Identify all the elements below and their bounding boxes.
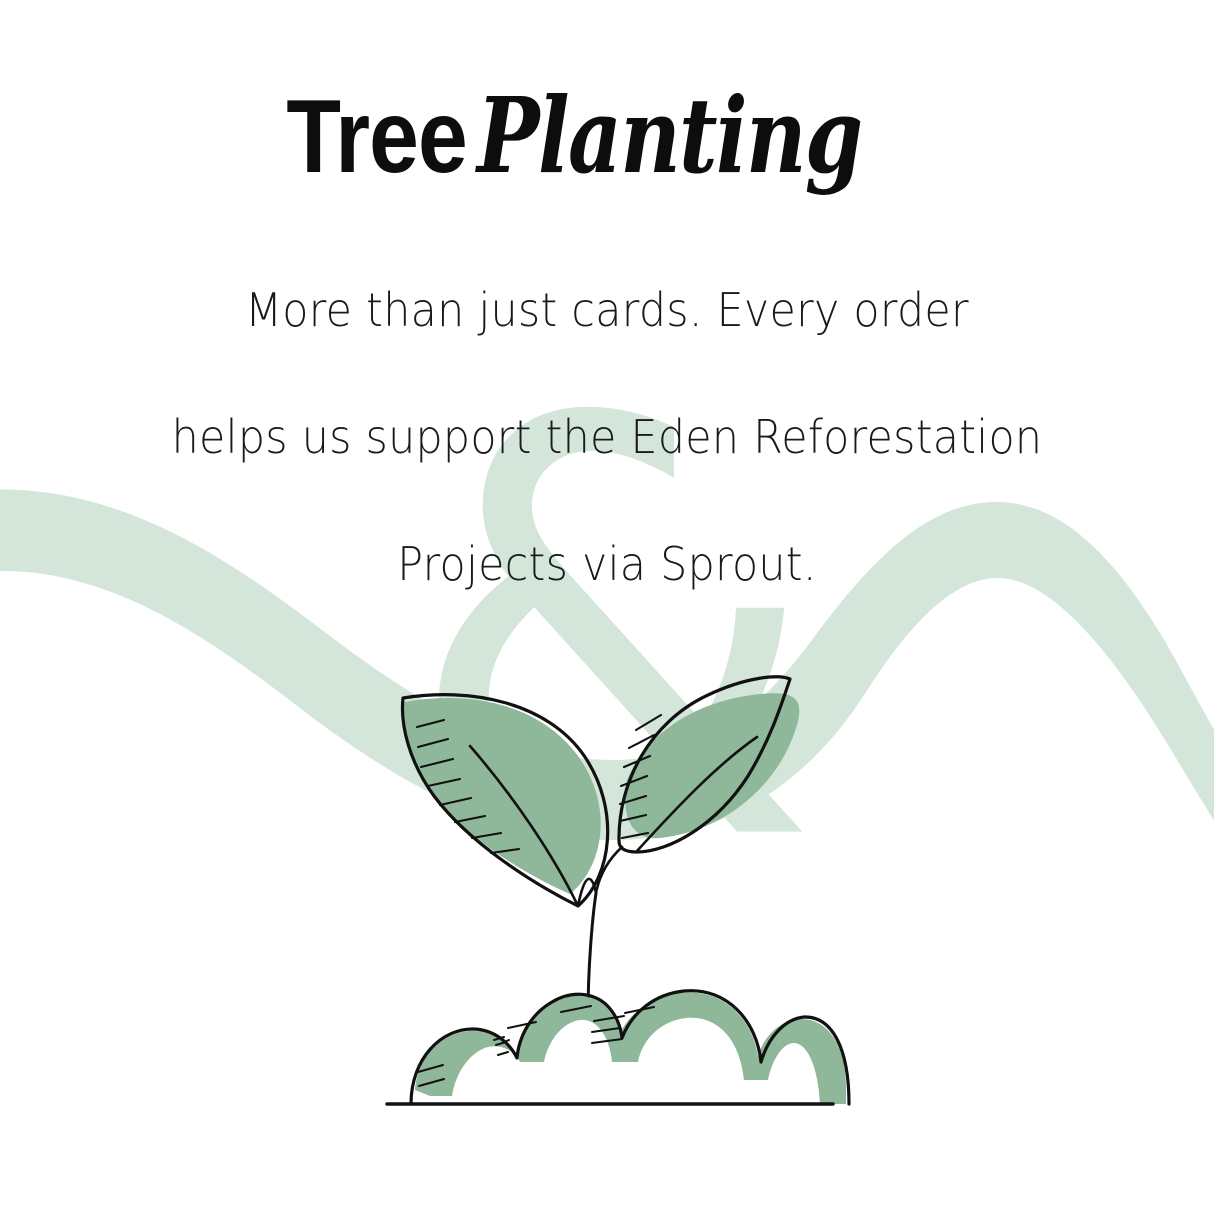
subcopy-line-2: helps us support the Eden Reforestation bbox=[42, 374, 1171, 501]
page-title: TreePlanting bbox=[0, 0, 1214, 189]
leaf-right-outline bbox=[619, 677, 790, 852]
leaf-right bbox=[619, 677, 799, 852]
leaf-right-fill bbox=[625, 693, 799, 838]
leaf-right-vein bbox=[637, 737, 757, 851]
soil-mound-outline bbox=[411, 991, 849, 1104]
leaf-left-fill bbox=[403, 698, 600, 894]
subcopy-paragraph: More than just cards. Every order helps … bbox=[0, 189, 1214, 628]
leaf-left-vein bbox=[470, 746, 578, 906]
leaf-left-hatching bbox=[417, 720, 519, 853]
subcopy-line-1: More than just cards. Every order bbox=[42, 247, 1171, 374]
stem-branch-left bbox=[578, 879, 596, 906]
soil-mound bbox=[387, 991, 849, 1104]
stem-line bbox=[588, 893, 596, 1015]
subcopy-line-3: Projects via Sprout. bbox=[42, 501, 1171, 628]
leaf-left-outline bbox=[402, 695, 607, 906]
soil-hatching bbox=[418, 1006, 654, 1086]
poster-canvas: & bbox=[0, 0, 1214, 1214]
stem-branch-right bbox=[596, 847, 622, 893]
soil-mound-fill bbox=[415, 992, 846, 1104]
leaf-left bbox=[402, 695, 607, 906]
page-title-italic-word: Planting bbox=[477, 84, 861, 188]
leaf-right-hatching bbox=[620, 715, 661, 838]
page-title-bold-word: Tree bbox=[286, 85, 467, 189]
stem bbox=[578, 847, 622, 1015]
text-block: TreePlanting More than just cards. Every… bbox=[0, 0, 1214, 628]
